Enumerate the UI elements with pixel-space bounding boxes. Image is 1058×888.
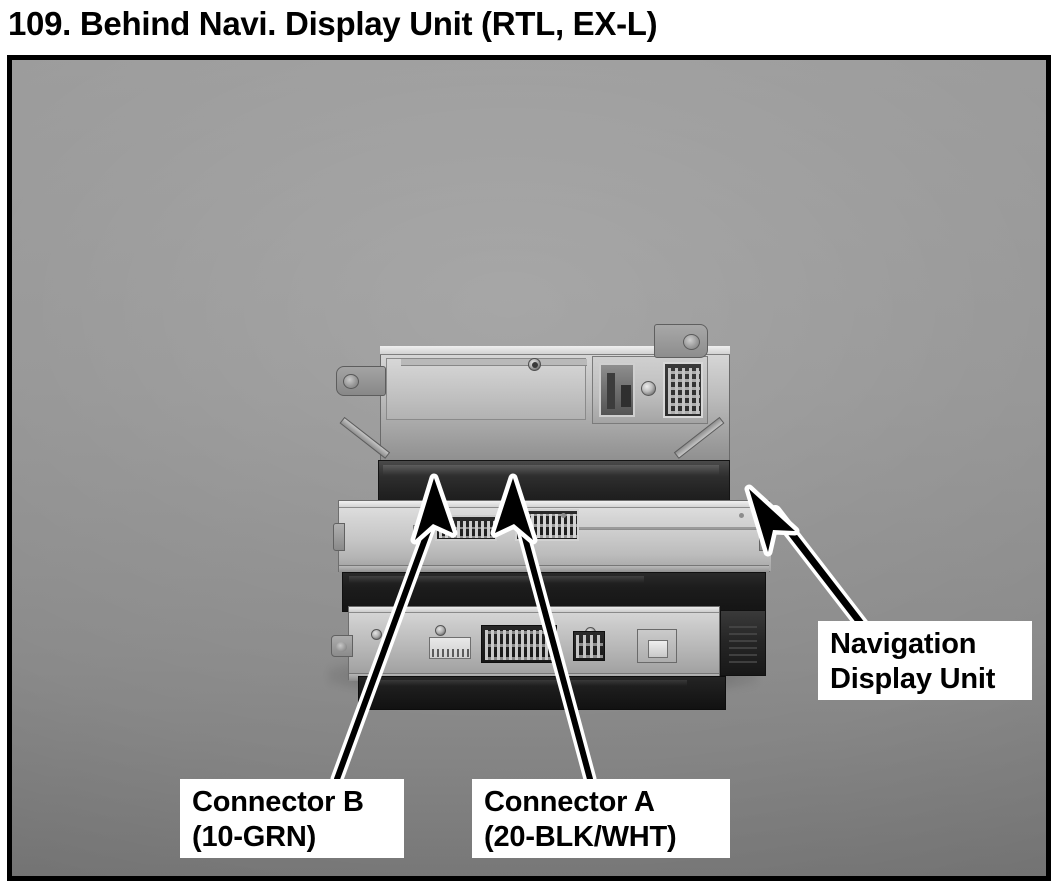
manual-page: 109. Behind Navi. Display Unit (RTL, EX-… bbox=[0, 0, 1058, 888]
assembly-base-slab bbox=[358, 676, 726, 710]
lower-chassis-screw-1 bbox=[371, 629, 382, 640]
connector-a-socket bbox=[515, 509, 579, 541]
callout-connector-a: Connector A (20-BLK/WHT) bbox=[472, 779, 730, 858]
upper-connector-screw bbox=[641, 381, 656, 396]
callout-connector-b: Connector B (10-GRN) bbox=[180, 779, 404, 858]
photo-frame bbox=[7, 55, 1051, 881]
display-unit-middle-chassis bbox=[338, 500, 770, 572]
page-title: 109. Behind Navi. Display Unit (RTL, EX-… bbox=[8, 2, 1048, 46]
middle-chassis-tab bbox=[413, 525, 429, 535]
connector-b-socket bbox=[435, 515, 497, 541]
lower-plastic-block bbox=[720, 610, 766, 676]
lower-chassis-module bbox=[348, 606, 720, 680]
lower-chassis-screw-2 bbox=[435, 625, 446, 636]
upper-connector-pins bbox=[668, 368, 700, 414]
lower-connector-multipin bbox=[481, 625, 557, 663]
middle-chassis-right-clip bbox=[759, 521, 773, 551]
lower-connector-small bbox=[573, 631, 605, 661]
upper-chassis-module bbox=[380, 346, 730, 464]
lower-mounting-bracket-left bbox=[331, 635, 353, 657]
upper-mounting-bracket-left bbox=[336, 366, 386, 396]
callout-navigation-display-unit: Navigation Display Unit bbox=[818, 621, 1032, 700]
upper-chassis-panel-notch bbox=[401, 359, 587, 366]
connector-a-pins bbox=[519, 514, 577, 538]
lower-connector-multipin-pins bbox=[485, 630, 555, 660]
connector-b-pins bbox=[439, 521, 495, 538]
upper-connector-housing bbox=[592, 356, 708, 424]
assembly-photograph bbox=[12, 60, 1046, 876]
upper-chassis-screw bbox=[528, 358, 541, 371]
lower-chassis-top-edge bbox=[349, 607, 719, 613]
navigation-display-unit-assembly bbox=[318, 288, 778, 720]
lower-connector-square bbox=[637, 629, 677, 663]
middle-chassis-rivet-1 bbox=[561, 513, 566, 518]
upper-connector-slot bbox=[599, 363, 635, 417]
upper-chassis-panel bbox=[386, 358, 586, 420]
middle-chassis-left-clip bbox=[333, 523, 345, 551]
middle-chassis-top-edge bbox=[339, 501, 769, 508]
lower-connector-small-pins bbox=[576, 635, 603, 658]
upper-mounting-bracket-right bbox=[654, 324, 708, 358]
upper-connector-pin-block bbox=[663, 362, 703, 418]
middle-chassis-rivet-2 bbox=[739, 513, 744, 518]
lower-connector-white bbox=[429, 637, 471, 659]
